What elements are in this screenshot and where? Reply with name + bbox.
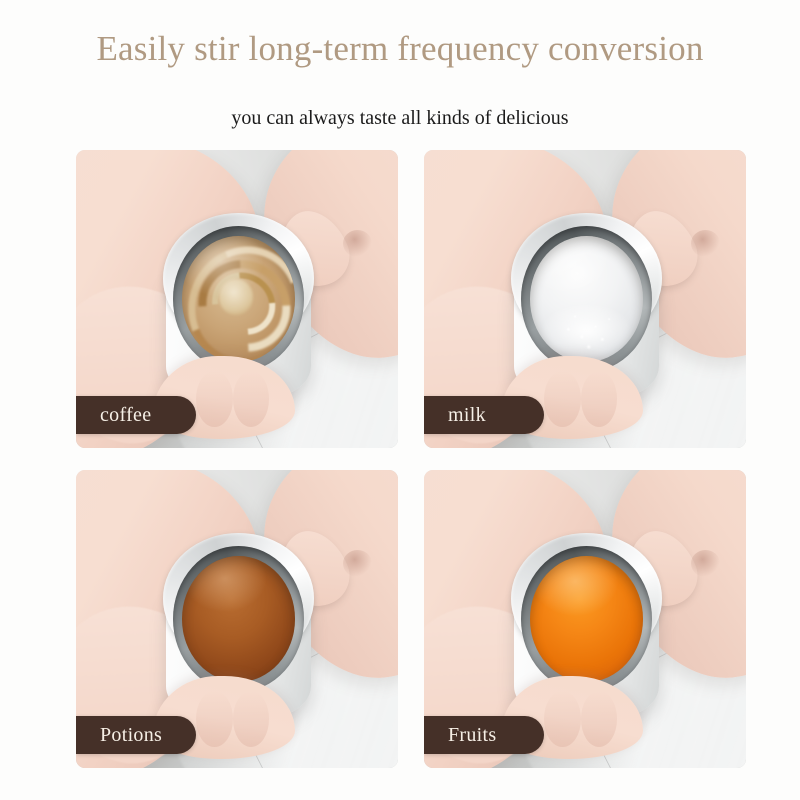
- liquid-surface-milk: [530, 236, 643, 362]
- caption-label: coffee: [100, 396, 151, 434]
- liquid-surface-potion: [182, 556, 295, 682]
- caption-pill-fruits: Fruits: [424, 716, 544, 754]
- liquid-sheen: [530, 236, 643, 362]
- gallery-card-milk[interactable]: milk: [424, 150, 746, 448]
- liquid-sheen: [530, 556, 643, 682]
- caption-pill-coffee: coffee: [76, 396, 196, 434]
- caption-pill-milk: milk: [424, 396, 544, 434]
- photo-gallery-grid: coffee: [76, 150, 746, 768]
- product-feature-page: Easily stir long-term frequency conversi…: [0, 0, 800, 800]
- liquid-sheen: [182, 236, 295, 362]
- gallery-card-fruits[interactable]: Fruits: [424, 470, 746, 768]
- page-title: Easily stir long-term frequency conversi…: [0, 26, 800, 72]
- liquid-surface-fruits: [530, 556, 643, 682]
- gallery-card-coffee[interactable]: coffee: [76, 150, 398, 448]
- liquid-sheen: [182, 556, 295, 682]
- liquid-surface-coffee: [182, 236, 295, 362]
- caption-label: milk: [448, 396, 486, 434]
- caption-label: Potions: [100, 716, 162, 754]
- gallery-card-potions[interactable]: Potions: [76, 470, 398, 768]
- caption-pill-potions: Potions: [76, 716, 196, 754]
- caption-label: Fruits: [448, 716, 496, 754]
- page-subtitle: you can always taste all kinds of delici…: [0, 104, 800, 132]
